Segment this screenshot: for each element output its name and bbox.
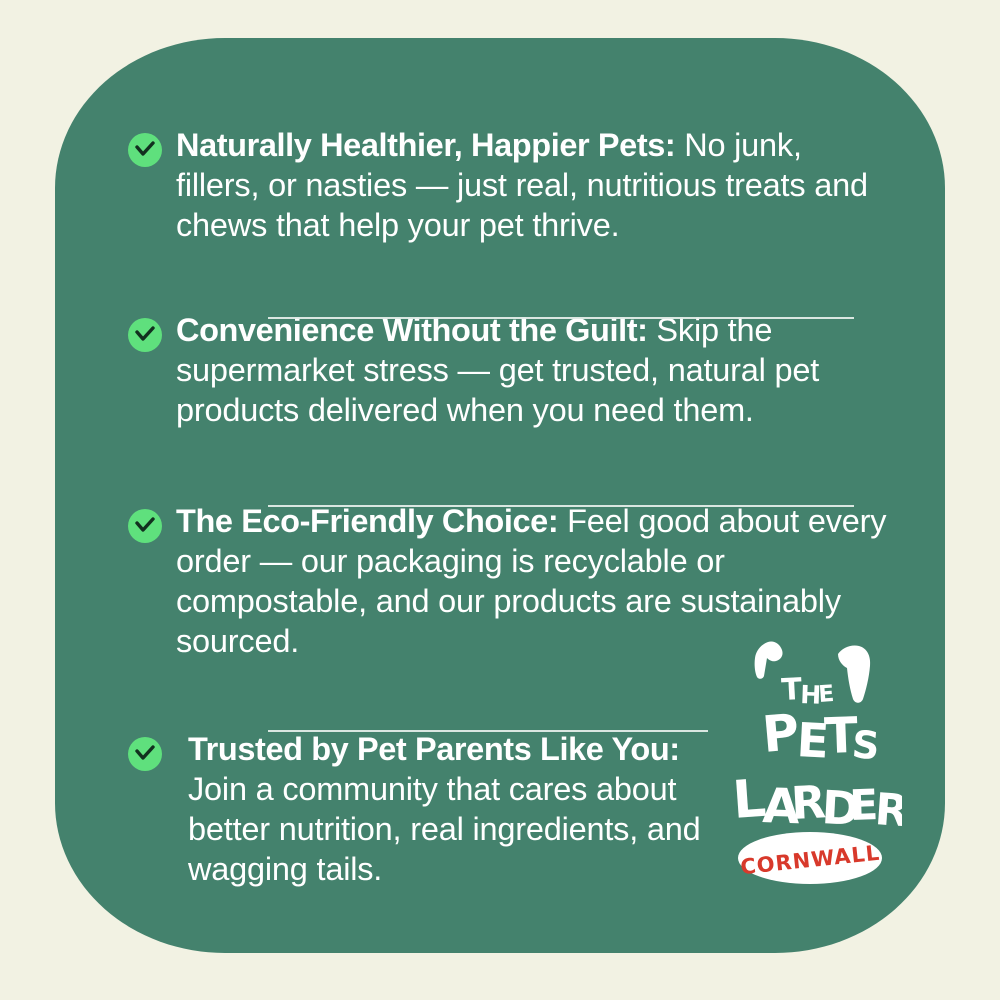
- list-item: Naturally Healthier, Happier Pets: No ju…: [128, 125, 868, 245]
- list-item: Convenience Without the Guilt: Skip the …: [128, 310, 888, 430]
- check-circle-icon: [128, 318, 162, 352]
- benefit-heading: Naturally Healthier, Happier Pets:: [176, 127, 675, 163]
- right-ear-icon: [838, 645, 870, 702]
- left-ear-icon: [755, 641, 783, 678]
- promo-card-stage: Naturally Healthier, Happier Pets: No ju…: [0, 0, 1000, 1000]
- logo-line-pets: P E T S: [760, 703, 881, 770]
- benefit-heading: The Eco-Friendly Choice:: [176, 503, 558, 539]
- benefit-text: Convenience Without the Guilt: Skip the …: [176, 310, 888, 430]
- benefit-heading: Trusted by Pet Parents Like You:: [188, 731, 680, 767]
- divider: [268, 505, 854, 507]
- check-circle-icon: [128, 133, 162, 167]
- logo-line-larder: L A R D E R: [731, 769, 902, 838]
- brand-logo: T H E P E T S L A R D E R: [722, 620, 902, 885]
- benefit-text: Naturally Healthier, Happier Pets: No ju…: [176, 125, 868, 245]
- check-circle-icon: [128, 737, 162, 771]
- svg-text:S: S: [850, 722, 881, 768]
- benefit-body: Join a community that cares about better…: [188, 771, 701, 887]
- divider: [268, 730, 708, 732]
- divider: [268, 317, 854, 319]
- svg-text:R: R: [873, 784, 902, 837]
- check-circle-icon: [128, 509, 162, 543]
- list-item: Trusted by Pet Parents Like You: Join a …: [128, 729, 708, 889]
- benefit-text: Trusted by Pet Parents Like You: Join a …: [188, 729, 708, 889]
- cornwall-badge: CORNWALL: [738, 832, 882, 884]
- svg-text:E: E: [818, 681, 835, 708]
